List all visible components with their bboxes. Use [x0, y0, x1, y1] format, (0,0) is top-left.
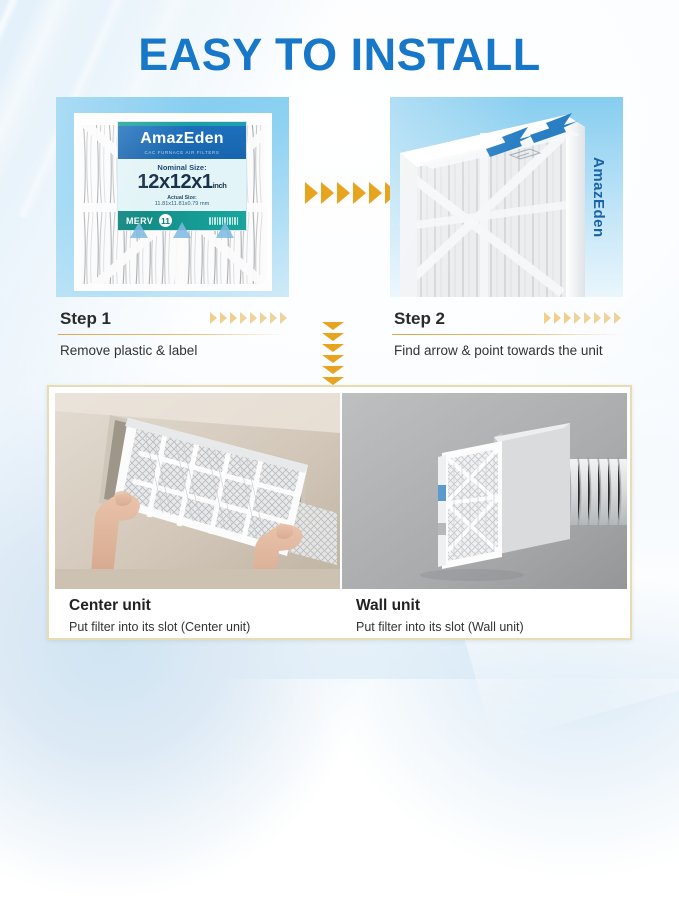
filter-side-brand: AmazEden — [590, 157, 607, 238]
wall-filter — [438, 441, 502, 569]
ceiling-vent-illustration — [55, 393, 340, 589]
chevron-down-icon — [322, 322, 344, 385]
chevron-right-icon — [544, 312, 621, 324]
infographic-page: EASY TO INSTALL — [0, 0, 679, 679]
step-2-image: AmazEden — [390, 97, 623, 297]
install-locations-panel: Center unit Put filter into its slot (Ce… — [47, 385, 632, 640]
label-brand-name: AmazEden — [118, 131, 246, 147]
step-1-header: Step 1 — [56, 297, 289, 334]
airflow-arrow-icon — [216, 222, 234, 238]
chevron-right-icon — [305, 182, 398, 204]
step-2-filter-illustration — [390, 97, 623, 297]
step-2-header: Step 2 — [390, 297, 623, 334]
step-1-column: AmazEden CAC FURNACE AIR FILTERS Nominal… — [56, 97, 289, 358]
label-nominal-size-unit: inch — [213, 181, 227, 190]
install-wall-unit: Wall unit Put filter into its slot (Wall… — [342, 393, 627, 632]
wall-unit-description: Put filter into its slot (Wall unit) — [356, 620, 627, 634]
label-actual-size-value: 11.81x11.81x0.79 — [155, 201, 199, 207]
product-label: AmazEden CAC FURNACE AIR FILTERS Nominal… — [117, 121, 247, 231]
wall-unit-image — [342, 393, 627, 589]
page-title: EASY TO INSTALL — [0, 29, 679, 81]
step-2-description: Find arrow & point towards the unit — [390, 335, 623, 358]
label-actual-size: 11.81x11.81x0.79 mm — [118, 201, 246, 207]
chevron-right-icon — [210, 312, 287, 324]
label-nominal-size-value: 12x12x1 — [138, 171, 213, 193]
center-unit-title: Center unit — [69, 597, 340, 615]
step-1-description: Remove plastic & label — [56, 335, 289, 358]
step-1-image: AmazEden CAC FURNACE AIR FILTERS Nominal… — [56, 97, 289, 297]
wall-unit-caption: Wall unit Put filter into its slot (Wall… — [342, 589, 627, 634]
install-center-unit: Center unit Put filter into its slot (Ce… — [55, 393, 340, 632]
airflow-arrow-icon — [173, 222, 191, 238]
center-unit-image — [55, 393, 340, 589]
step-2-title: Step 2 — [394, 309, 445, 329]
label-actual-size-unit: mm — [200, 201, 209, 207]
wall-unit-title: Wall unit — [356, 597, 627, 615]
label-brand-band: AmazEden CAC FURNACE AIR FILTERS — [118, 126, 246, 159]
airflow-arrows-group — [118, 222, 246, 238]
label-size-block: Nominal Size: 12x12x1inch Actual Size: 1… — [118, 159, 246, 211]
step-2-column: AmazEden Step 2 Find arrow & point towar… — [390, 97, 623, 358]
label-brand-tagline: CAC FURNACE AIR FILTERS — [118, 150, 246, 155]
airflow-arrow-icon — [130, 222, 148, 238]
step-1-title: Step 1 — [60, 309, 111, 329]
center-unit-description: Put filter into its slot (Center unit) — [69, 620, 340, 634]
wall-duct-illustration — [342, 393, 627, 589]
center-unit-caption: Center unit Put filter into its slot (Ce… — [55, 589, 340, 634]
label-nominal-size: 12x12x1inch — [118, 172, 246, 193]
